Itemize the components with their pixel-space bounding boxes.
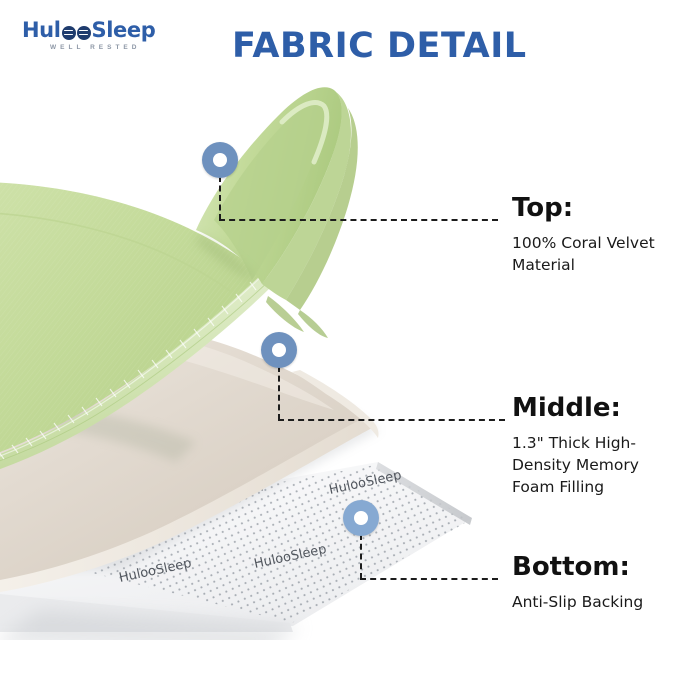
brand-tagline: WELL RESTED — [50, 44, 162, 51]
callout-middle: Middle: 1.3" Thick High-Density Memory F… — [512, 394, 679, 498]
leader-line-middle-vertical — [278, 366, 280, 420]
callout-bottom-heading: Bottom: — [512, 553, 679, 582]
leader-line-bottom-horizontal — [360, 578, 498, 580]
callout-marker-middle[interactable] — [261, 332, 297, 368]
sleeping-eye-right-icon — [77, 26, 91, 40]
callout-top-heading: Top: — [512, 194, 679, 223]
infographic-canvas: Hul Sleep WELL RESTED FABRIC DETAIL — [0, 0, 679, 679]
callout-bottom: Bottom: Anti-Slip Backing — [512, 553, 679, 613]
brand-logo: Hul Sleep WELL RESTED — [22, 20, 162, 51]
leader-line-middle-horizontal — [278, 419, 505, 421]
leader-line-top-vertical — [219, 176, 221, 220]
callout-middle-heading: Middle: — [512, 394, 679, 423]
page-title: FABRIC DETAIL — [232, 26, 527, 66]
callout-middle-description: 1.3" Thick High-Density Memory Foam Fill… — [512, 432, 679, 498]
product-illustration: HulooSleep HulooSleep HulooSleep HulooSl… — [0, 70, 500, 640]
leader-line-bottom-vertical — [360, 534, 362, 579]
sleeping-eyes-icon — [62, 24, 91, 38]
callout-top-description: 100% Coral Velvet Material — [512, 232, 679, 276]
brand-name-prefix: Hul — [22, 20, 61, 41]
brand-name-suffix: Sleep — [92, 20, 156, 41]
sleeping-eye-left-icon — [62, 26, 76, 40]
brand-logo-wordmark: Hul Sleep — [22, 20, 162, 41]
callout-marker-bottom[interactable] — [343, 500, 379, 536]
callout-marker-top[interactable] — [202, 142, 238, 178]
callout-top: Top: 100% Coral Velvet Material — [512, 194, 679, 276]
leader-line-top-horizontal — [219, 219, 498, 221]
callout-bottom-description: Anti-Slip Backing — [512, 591, 679, 613]
